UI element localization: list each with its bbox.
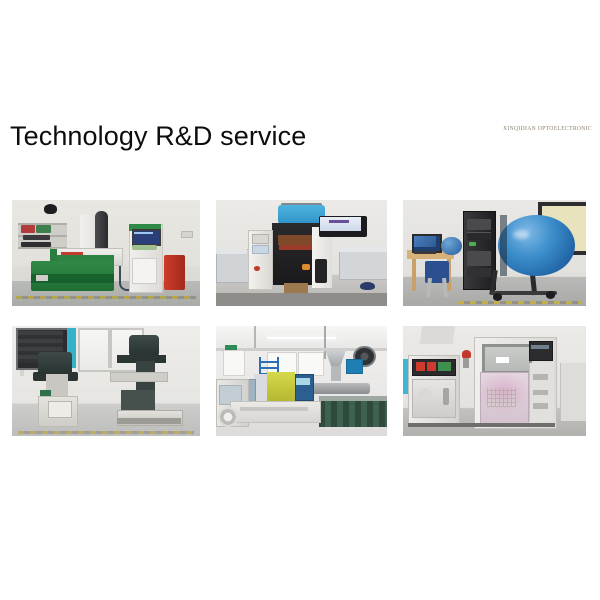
slide-canvas: Technology R&D service XINQIDIAN OPTOELE… <box>0 0 600 600</box>
gallery-photo-2[interactable]: Automated production equipment with blue… <box>216 200 387 306</box>
gallery-photo-4[interactable]: Two vertical milling machines in a brigh… <box>12 326 200 436</box>
gallery-photo-5-caption: Injection molding workshop with hoppers,… <box>216 435 217 436</box>
gallery-photo-6-caption: Environmental test chambers - temperatur… <box>403 435 404 436</box>
page-title: Technology R&D service <box>10 119 306 153</box>
gallery-photo-6[interactable]: Environmental test chambers - temperatur… <box>403 326 586 436</box>
photo-gallery-grid: CNC wire-cut EDM machine with green base… <box>12 200 586 436</box>
gallery-photo-4-caption: Two vertical milling machines in a brigh… <box>12 435 13 436</box>
gallery-photo-3-caption: Integrating sphere photometric test lab … <box>403 305 404 306</box>
gallery-photo-1[interactable]: CNC wire-cut EDM machine with green base… <box>12 200 200 306</box>
brand-logo-text: XINQIDIAN OPTOELECTRONIC <box>503 124 592 133</box>
gallery-photo-1-caption: CNC wire-cut EDM machine with green base… <box>12 305 13 306</box>
gallery-photo-2-caption: Automated production equipment with blue… <box>216 305 217 306</box>
gallery-photo-3[interactable]: Integrating sphere photometric test lab … <box>403 200 586 306</box>
gallery-photo-5[interactable]: Injection molding workshop with hoppers,… <box>216 326 387 436</box>
